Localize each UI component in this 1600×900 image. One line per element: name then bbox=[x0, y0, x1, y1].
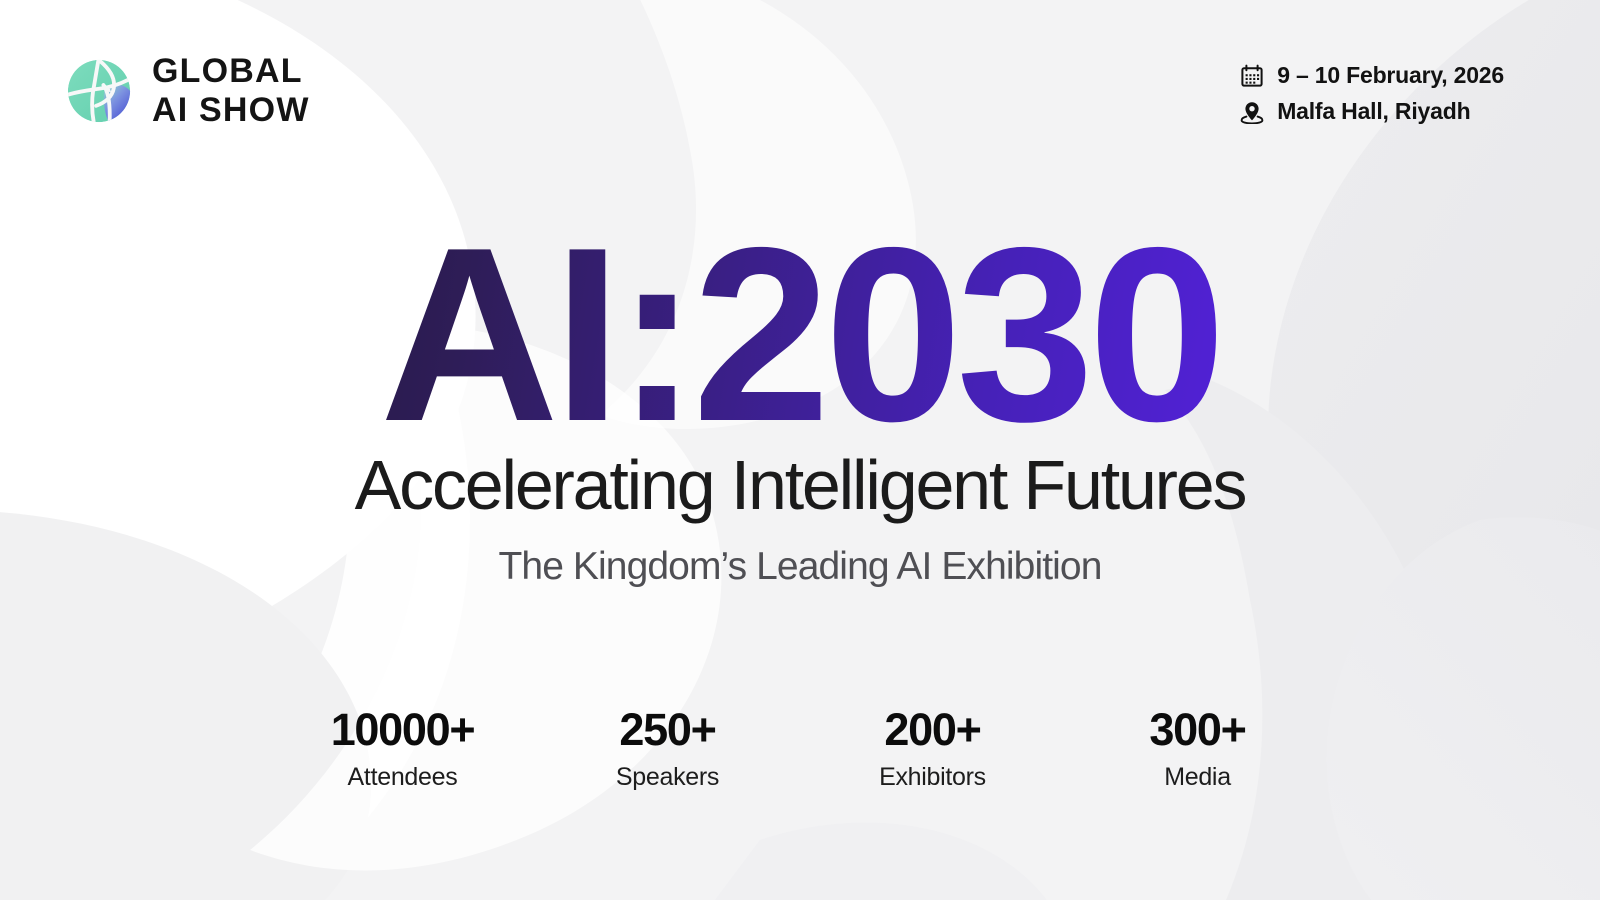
stat-label: Exhibitors bbox=[800, 763, 1065, 792]
stat-attendees: 10000+ Attendees bbox=[270, 706, 535, 792]
stat-label: Attendees bbox=[270, 763, 535, 792]
stat-media: 300+ Media bbox=[1065, 706, 1330, 792]
location-pin-icon bbox=[1239, 99, 1265, 125]
stat-value: 200+ bbox=[800, 706, 1065, 753]
brand-wordmark-line1: GLOBAL bbox=[152, 52, 332, 90]
hero-subtitle: The Kingdom’s Leading AI Exhibition bbox=[0, 545, 1600, 589]
banner-header: GLOBAL AI SHOW bbox=[0, 0, 1600, 180]
brand-wordmark: GLOBAL AI SHOW bbox=[152, 52, 332, 130]
event-banner: GLOBAL AI SHOW bbox=[0, 0, 1600, 900]
stats-row: 10000+ Attendees 250+ Speakers 200+ Exhi… bbox=[270, 706, 1330, 792]
stat-speakers: 250+ Speakers bbox=[535, 706, 800, 792]
svg-text:GLOBAL: GLOBAL bbox=[152, 52, 303, 90]
svg-text:AI SHOW: AI SHOW bbox=[152, 91, 310, 129]
stat-value: 300+ bbox=[1065, 706, 1330, 753]
event-date-row: 9 – 10 February, 2026 bbox=[1239, 62, 1504, 89]
stat-label: Media bbox=[1065, 763, 1330, 792]
stat-exhibitors: 200+ Exhibitors bbox=[800, 706, 1065, 792]
event-meta: 9 – 10 February, 2026 Malfa Hall, Riyadh bbox=[1239, 62, 1504, 125]
stat-label: Speakers bbox=[535, 763, 800, 792]
stat-value: 10000+ bbox=[270, 706, 535, 753]
calendar-icon bbox=[1239, 63, 1265, 89]
event-date-text: 9 – 10 February, 2026 bbox=[1277, 62, 1504, 89]
page-title: AI:2030 bbox=[0, 228, 1600, 441]
brand-wordmark-line2: AI SHOW bbox=[152, 90, 332, 130]
stat-value: 250+ bbox=[535, 706, 800, 753]
globe-sphere-logo-icon bbox=[62, 54, 136, 128]
hero-tagline: Accelerating Intelligent Futures bbox=[0, 449, 1600, 523]
hero-section: AI:2030 Accelerating Intelligent Futures… bbox=[0, 228, 1600, 589]
brand-lockup[interactable]: GLOBAL AI SHOW bbox=[62, 52, 332, 130]
event-location-row: Malfa Hall, Riyadh bbox=[1239, 98, 1470, 125]
event-location-text: Malfa Hall, Riyadh bbox=[1277, 98, 1470, 125]
